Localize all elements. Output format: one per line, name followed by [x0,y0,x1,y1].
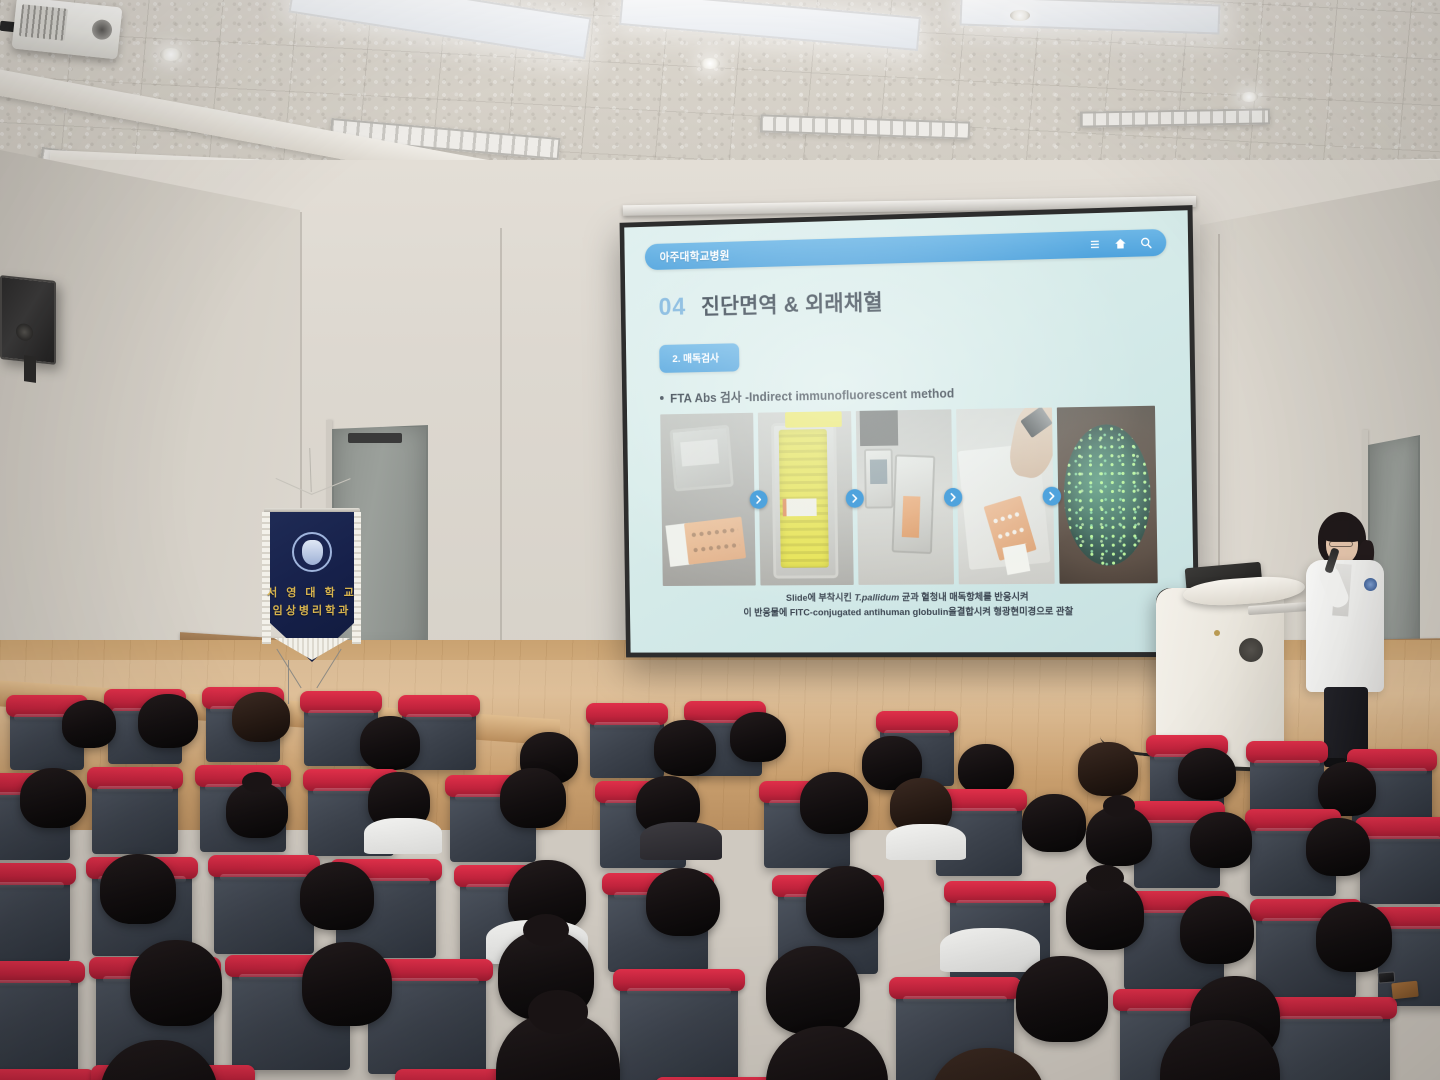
slide-title-row: 04 진단면역 & 외래채혈 [645,278,1167,322]
audience-head [62,700,116,748]
topbar-icon-group [1088,236,1152,251]
ceiling-light-grille [1080,108,1270,127]
audience-head [1190,812,1252,868]
speaker-driver-icon [16,323,33,342]
audience-head [1306,818,1370,876]
pennant-line-1: 서 영 대 학 교 [248,584,376,600]
slide-title: 진단면역 & 외래채혈 [701,285,883,321]
audience-head [226,782,288,838]
ceiling-downlight [700,58,720,69]
audience-head [138,694,198,748]
pennant-fringe [262,512,271,644]
hospital-emblem-icon [1364,578,1377,591]
audience-head [958,744,1014,794]
audience-head [20,768,86,828]
audience-head [496,1012,620,1080]
slide-caption: Slide에 부착시킨 T.pallidum 균과 혈청내 매독항체를 반응시켜… [663,590,1158,621]
audience-head [100,854,176,924]
projector-lens [91,19,113,41]
audience-head [1066,878,1144,950]
speaker-mount [24,355,36,383]
pennant-cord [311,478,350,495]
audience-head [360,716,420,770]
audience-head [806,866,884,938]
seat[interactable] [0,974,78,1076]
handheld-device[interactable] [1378,971,1396,983]
ceiling-downlight [1010,10,1030,21]
audience-head [302,942,392,1026]
projection-screen: 아주대학교병원 [620,205,1200,657]
audience-head [730,712,786,762]
pennant-hanger [309,448,312,492]
audience-head [500,768,566,828]
audience-shoulders [640,822,722,860]
audience-head [1022,794,1086,852]
seat[interactable] [620,982,738,1080]
presenter-fringe [1322,520,1364,542]
slide-photo-fta-kit-tray [660,413,755,586]
bullet-row: FTA Abs 검사 -Indirect immunofluorescent m… [660,379,1169,407]
chevron-right-icon [1042,487,1061,506]
seat[interactable] [1360,830,1440,904]
projector-vent [19,4,68,41]
audience-head [800,772,868,834]
search-icon[interactable] [1140,236,1153,249]
menu-icon[interactable] [1088,238,1101,251]
slide-photo-fluorescence-field [1057,406,1158,584]
seal-shield-icon [302,540,323,565]
slide-photo-gauze-cassette [956,408,1055,585]
seat[interactable] [1272,1010,1390,1080]
caption-post: 균과 혈청내 매독항체를 반응시켜 [899,592,1028,603]
seat-tablet-arm[interactable] [1391,981,1419,1000]
wall-speaker [0,275,56,365]
pennant-line-2: 임상병리학과 [248,602,376,618]
presentation-slide: 아주대학교병원 [624,210,1194,652]
audience-head [300,862,374,930]
chevron-right-icon [846,489,864,508]
audience-head [646,868,720,936]
lecture-hall-photo: 서 영 대 학 교 임상병리학과 아주대학교병원 [0,0,1440,1080]
audience-head [1318,762,1376,816]
caption-species: T.pallidum [854,593,899,604]
hospital-brand-label: 아주대학교병원 [660,247,730,264]
slide-number: 04 [658,293,686,322]
photo-strip [660,406,1158,586]
audience-head [654,720,716,776]
audience-head [1016,956,1108,1042]
university-seal-icon [292,532,332,572]
seat[interactable] [1250,754,1324,816]
audience-head [1316,902,1392,972]
audience-shoulders [886,824,966,860]
ceiling-downlight [160,48,182,61]
audience-head [1086,806,1152,866]
home-icon[interactable] [1114,237,1127,250]
slide-photo-yellow-slide-rack [757,411,853,585]
slide-photo-lab-instruments [856,409,954,585]
ceiling-downlight [1240,92,1258,102]
slide-topbar: 아주대학교병원 [645,229,1167,270]
department-pennant: 서 영 대 학 교 임상병리학과 [248,448,388,700]
audience-seating [0,690,1440,1080]
pennant-cord [276,478,313,495]
caption-pre: Slide에 부착시킨 [786,593,855,604]
section-badge: 2. 매독검사 [659,343,740,373]
wall-seam [500,228,502,648]
audience-head [1180,896,1254,964]
audience-head [766,1026,888,1080]
seat[interactable] [590,716,664,778]
pennant-stand-leg [276,649,301,689]
audience-head [1178,748,1236,800]
audience-shoulders [364,818,442,854]
seat[interactable] [92,780,178,854]
screen-surface: 아주대학교병원 [624,210,1194,652]
audience-head [766,946,860,1034]
pennant-fringe-bottom [274,638,350,660]
bullet-text: FTA Abs 검사 -Indirect immunofluorescent m… [670,383,954,407]
audience-head [1078,742,1138,796]
chevron-right-icon [944,488,963,507]
podium-knob[interactable] [1214,630,1220,636]
seat[interactable] [214,868,314,954]
caption-line-2: 이 반응물에 FITC-conjugated antihuman globuli… [663,605,1158,621]
chevron-right-icon [750,490,768,509]
podium-speaker-grille [1239,638,1263,662]
door-closer [348,433,402,443]
seat[interactable] [0,876,70,962]
audience-head [232,692,290,742]
audience-head [130,940,222,1026]
bullet-dot-icon [660,396,664,400]
presenter-glasses [1329,541,1353,547]
audience-shoulders [940,928,1040,972]
